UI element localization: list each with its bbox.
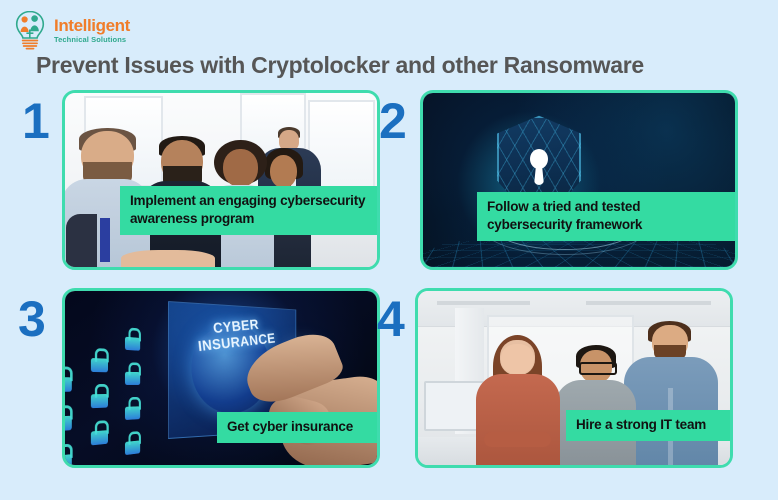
card-caption-3: Get cyber insurance [217,412,377,443]
step-number-3: 3 [18,294,44,344]
step-number-2: 2 [379,96,405,146]
card-frame-4[interactable]: Hire a strong IT team [415,288,733,468]
steps-grid: 1 [0,90,778,490]
team-member-middle [555,345,636,465]
brand-tagline: Technical Solutions [54,36,130,44]
card-image-1 [65,93,377,267]
card-caption-2: Follow a tried and tested cybersecurity … [477,192,735,241]
card-frame-1[interactable]: Implement an engaging cybersecurity awar… [62,90,380,270]
padlock-grid [65,294,183,465]
team-member-right [624,321,718,465]
brand-name: Intelligent [54,17,130,34]
lightbulb-people-icon [10,9,50,51]
card-caption-1: Implement an engaging cybersecurity awar… [120,186,377,235]
brand-logo: Intelligent Technical Solutions [10,9,130,51]
card-frame-2[interactable]: Follow a tried and tested cybersecurity … [420,90,738,270]
team-member-left [474,335,561,466]
page-title: Prevent Issues with Cryptolocker and oth… [36,52,644,79]
card-caption-4: Hire a strong IT team [566,410,730,441]
card-frame-3[interactable]: CYBER INSURANCE Get cyber insurance [62,288,380,468]
step-number-4: 4 [377,294,403,344]
pointing-hand [240,336,377,465]
brand-wordmark: Intelligent Technical Solutions [54,17,130,44]
step-number-1: 1 [22,96,48,146]
